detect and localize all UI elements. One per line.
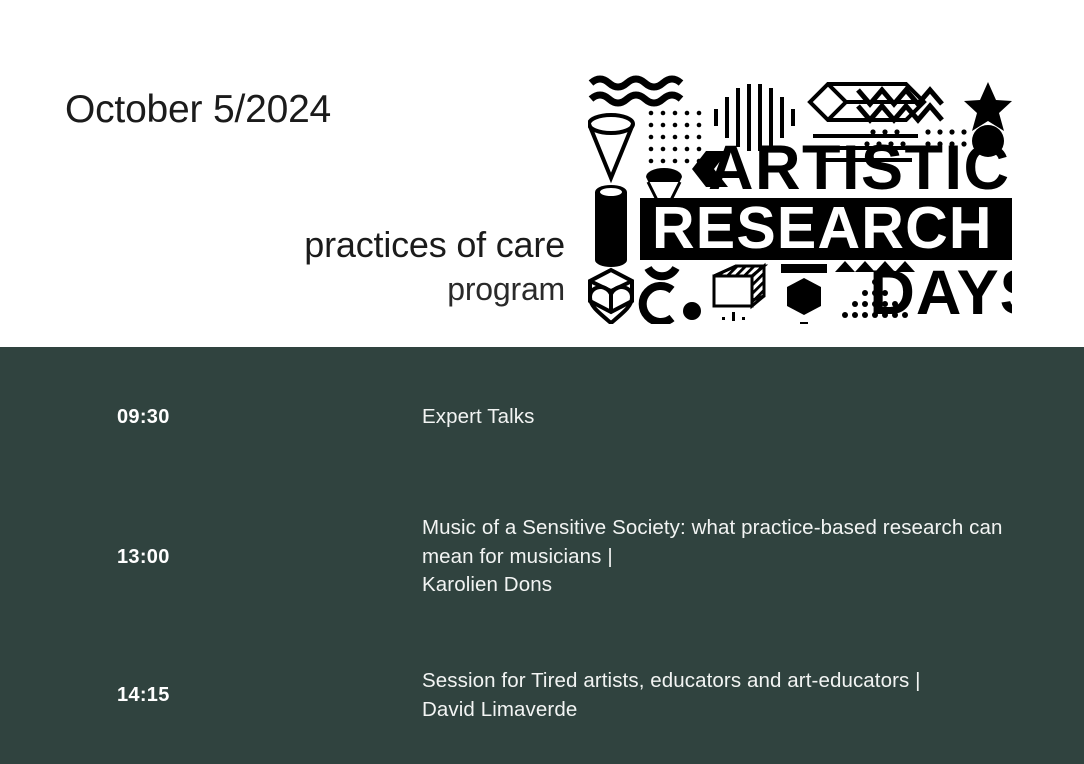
- artistic-research-days-logo: ARTISTIC RESEARCH: [588, 74, 1012, 324]
- program-schedule-list: 09:30 Expert Talks 13:00 Music of a Sens…: [0, 347, 1084, 764]
- subtitle-secondary: program: [304, 268, 565, 310]
- schedule-description: Music of a Sensitive Society: what pract…: [422, 514, 1084, 600]
- subtitle-block: practices of care program: [304, 222, 565, 310]
- page-title: October 5/2024: [65, 88, 331, 132]
- subtitle-primary: practices of care: [304, 222, 565, 268]
- zigzag-lines-icon: [858, 90, 942, 120]
- outlined-cone-icon: [589, 115, 633, 178]
- schedule-row: 14:15 Session for Tired artists, educato…: [0, 627, 1084, 764]
- schedule-row: 09:30 Expert Talks: [0, 347, 1084, 487]
- schedule-description: Session for Tired artists, educators and…: [422, 667, 1084, 724]
- logo-line-research: RESEARCH: [652, 195, 993, 261]
- star-icon: [964, 82, 1012, 131]
- hatched-cube-icon: [714, 266, 764, 306]
- schedule-time: 14:15: [0, 684, 422, 707]
- schedule-description: Expert Talks: [422, 403, 1084, 432]
- filled-dot-icon: [683, 302, 701, 320]
- schedule-time: 09:30: [0, 406, 422, 429]
- program-poster: October 5/2024 practices of care program: [0, 0, 1084, 764]
- hexagon-bar-icon: [781, 264, 827, 324]
- arc-icon: [643, 268, 676, 322]
- schedule-time: 13:00: [0, 546, 422, 569]
- filled-cylinder-icon: [595, 185, 627, 267]
- logo-line-days: DAYS: [869, 258, 1012, 324]
- schedule-row: 13:00 Music of a Sensitive Society: what…: [0, 487, 1084, 627]
- program-panel: 09:30 Expert Talks 13:00 Music of a Sens…: [0, 347, 1084, 764]
- tick-marks-icon: [722, 312, 745, 321]
- logo-line-artistic: ARTISTIC: [708, 133, 1010, 203]
- dot-grid-icon: [645, 109, 703, 167]
- wavy-lines-icon: [591, 79, 681, 103]
- poster-header: October 5/2024 practices of care program: [0, 0, 1084, 347]
